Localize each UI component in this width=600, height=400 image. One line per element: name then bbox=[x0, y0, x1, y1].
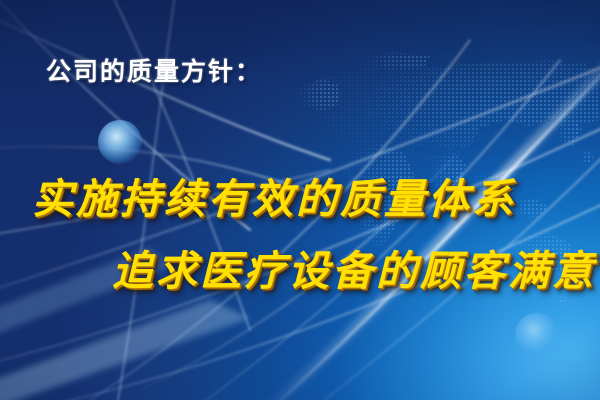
policy-line-1: 实施持续有效的质量体系 bbox=[32, 165, 516, 225]
glow-node-left bbox=[98, 120, 142, 164]
page-title: 公司的质量方针： bbox=[46, 52, 262, 88]
policy-line-2: 追求医疗设备的顾客满意 bbox=[112, 237, 596, 297]
slide-canvas: 公司的质量方针： 实施持续有效的质量体系 追求医疗设备的顾客满意 bbox=[0, 0, 600, 400]
glow-node-right bbox=[515, 313, 559, 357]
